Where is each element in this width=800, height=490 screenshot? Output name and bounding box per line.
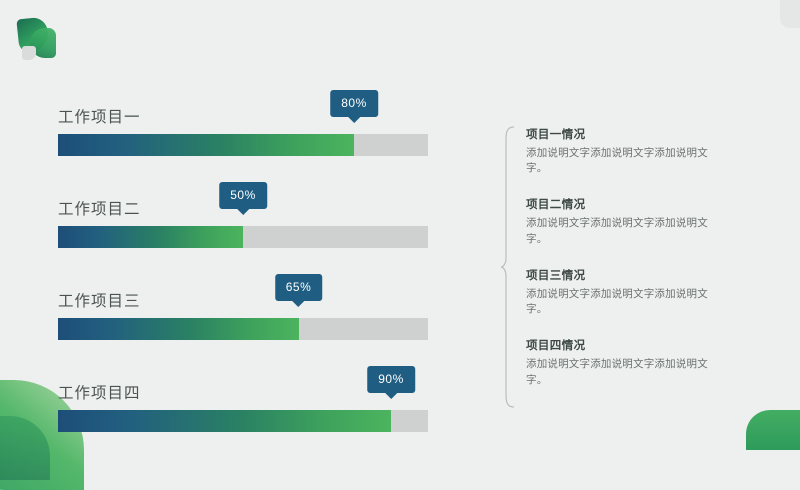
note-item: 项目四情况 添加说明文字添加说明文字添加说明文字。 [526,337,750,387]
note-body: 添加说明文字添加说明文字添加说明文字。 [526,357,722,387]
note-body: 添加说明文字添加说明文字添加说明文字。 [526,216,722,246]
note-body: 添加说明文字添加说明文字添加说明文字。 [526,146,722,176]
bar-fill [58,226,243,248]
bar-fill [58,410,391,432]
brace-bracket-icon [500,126,516,408]
bar-category-label: 工作项目三 [58,292,428,312]
bar-fill [58,134,354,156]
chart-row: 工作项目三 65% [58,292,428,364]
bar-value-callout: 50% [219,182,267,209]
note-title: 项目一情况 [526,126,750,142]
note-item: 项目二情况 添加说明文字添加说明文字添加说明文字。 [526,196,750,246]
logo-shape-accent [22,46,36,60]
note-item: 项目三情况 添加说明文字添加说明文字添加说明文字。 [526,267,750,317]
bar-value-callout: 90% [367,366,415,393]
bar-track: 90% [58,410,428,432]
chart-row: 工作项目四 90% [58,384,428,456]
leaf-logo [18,18,62,62]
note-title: 项目四情况 [526,337,750,353]
bar-value-callout: 65% [275,274,323,301]
chart-row: 工作项目二 50% [58,200,428,272]
notes-panel: 项目一情况 添加说明文字添加说明文字添加说明文字。 项目二情况 添加说明文字添加… [500,126,750,408]
bar-track: 80% [58,134,428,156]
progress-bar-chart: 工作项目一 80% 工作项目二 50% 工作项目三 65% 工作项目四 90% [58,108,428,476]
note-body: 添加说明文字添加说明文字添加说明文字。 [526,287,722,317]
bar-track: 50% [58,226,428,248]
note-title: 项目三情况 [526,267,750,283]
bar-track: 65% [58,318,428,340]
chart-row: 工作项目一 80% [58,108,428,180]
note-title: 项目二情况 [526,196,750,212]
corner-decoration-top-right [780,0,800,28]
bar-fill [58,318,299,340]
bar-value-callout: 80% [330,90,378,117]
corner-decoration-bottom-right [746,410,800,450]
note-item: 项目一情况 添加说明文字添加说明文字添加说明文字。 [526,126,750,176]
